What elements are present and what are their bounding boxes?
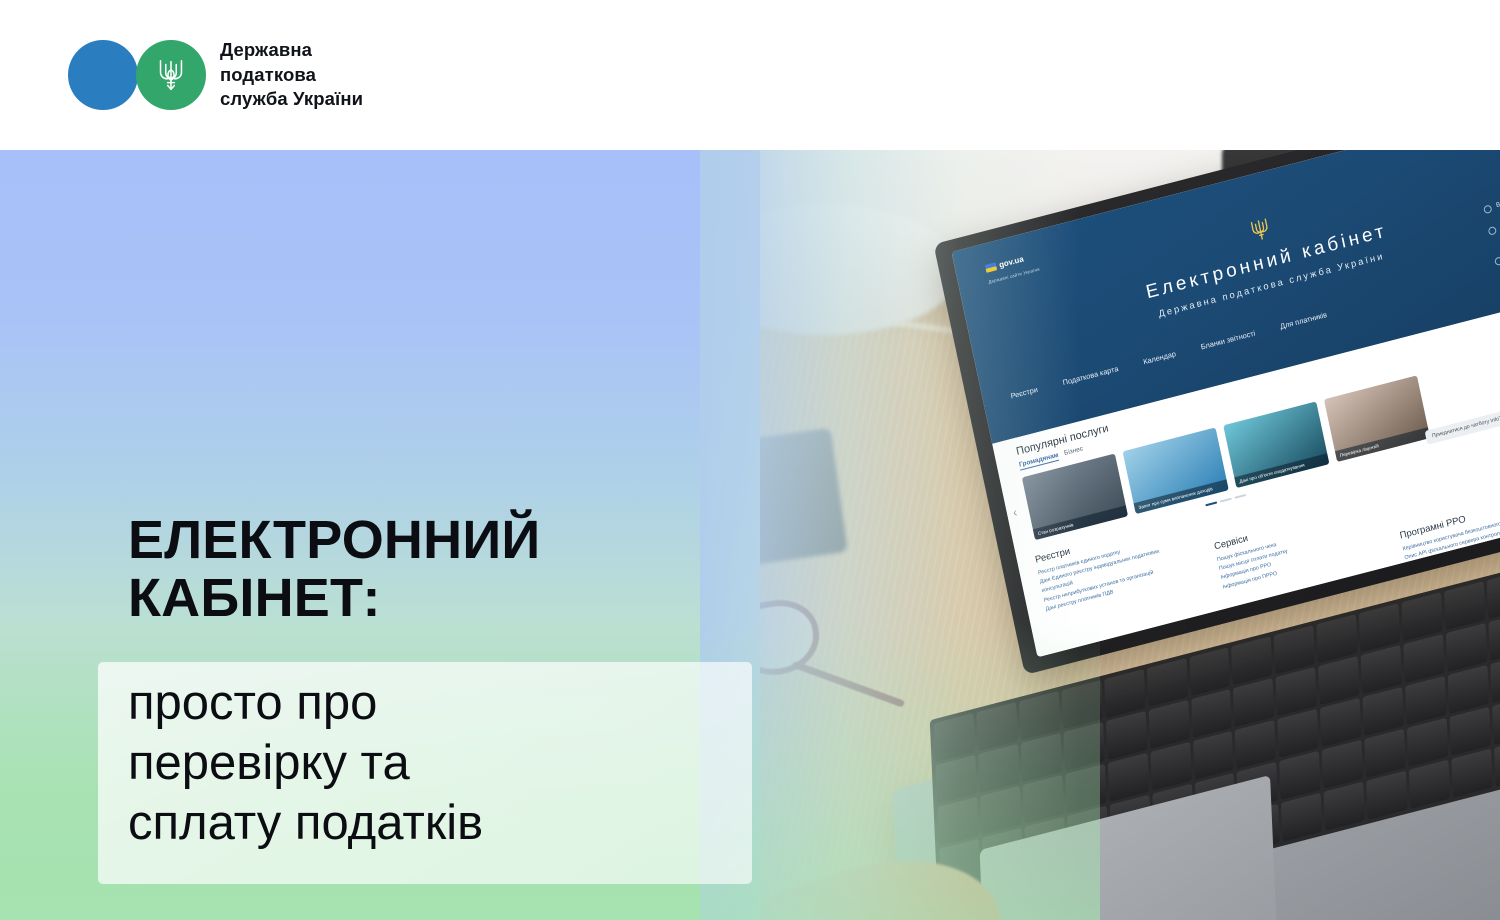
key[interactable]: [1023, 775, 1064, 824]
key[interactable]: [1366, 771, 1407, 820]
key[interactable]: [1191, 689, 1232, 738]
key[interactable]: [1451, 749, 1492, 798]
key[interactable]: [1450, 707, 1491, 756]
key[interactable]: [1278, 709, 1319, 758]
poster-page: Державна податкова служба України: [0, 0, 1500, 920]
key[interactable]: [1490, 654, 1500, 703]
utility-login-label: Вхід: [1495, 199, 1500, 210]
service-card[interactable]: Перевірка ліцензій: [1324, 375, 1430, 462]
info-icon: [1488, 226, 1497, 236]
key[interactable]: [1318, 656, 1359, 705]
carousel-dot[interactable]: [1234, 494, 1246, 499]
key[interactable]: [1403, 634, 1444, 683]
logo-marks: [68, 40, 206, 110]
gov-brand[interactable]: gov.ua Державні сайти України: [984, 247, 1040, 285]
key[interactable]: [1405, 676, 1446, 725]
key[interactable]: [1146, 658, 1187, 707]
key[interactable]: [1402, 592, 1443, 641]
carousel-dot[interactable]: [1220, 498, 1232, 503]
gov-brand-label: gov.ua: [998, 254, 1024, 269]
software-rro-column: Програмні РРО Керівництво користувача бе…: [1399, 487, 1500, 590]
key[interactable]: [1021, 733, 1062, 782]
key[interactable]: [936, 755, 977, 804]
service-card-caption: Дані про об'єкти оподаткування: [1234, 453, 1329, 488]
nav-item-registers[interactable]: Реєстри: [1010, 385, 1039, 401]
tab-business[interactable]: Бізнес: [1064, 445, 1084, 457]
carousel-dots[interactable]: [1205, 494, 1246, 506]
carousel-prev-icon[interactable]: ‹: [1012, 506, 1018, 519]
page-subtitle: просто про перевірку та сплату податків: [128, 674, 483, 853]
utility-legal-acts[interactable]: Нормативно-правові акти: [1488, 210, 1500, 244]
key[interactable]: [1150, 742, 1191, 791]
ukraine-flag-icon: [985, 262, 997, 273]
service-card-caption: Запит про суми виплачених доходів: [1133, 479, 1228, 514]
key[interactable]: [1104, 669, 1145, 718]
blue-circle-icon: [68, 40, 138, 110]
nav-item-taxpayers[interactable]: Для платників: [1279, 310, 1327, 331]
screen-trident-icon: [1246, 214, 1273, 247]
key[interactable]: [1276, 667, 1317, 716]
key[interactable]: [1444, 581, 1485, 630]
key[interactable]: [1231, 636, 1272, 685]
key[interactable]: [1322, 740, 1363, 789]
service-card[interactable]: Запит про суми виплачених доходів: [1123, 427, 1229, 514]
login-icon: [1483, 204, 1492, 214]
key[interactable]: [1409, 760, 1450, 809]
key[interactable]: [1281, 793, 1322, 842]
site-header: Державна податкова служба України: [0, 0, 1500, 150]
chatbot-tooltip: Приєднатися до чатботу InfoTAX: [1425, 408, 1500, 444]
key[interactable]: [1359, 603, 1400, 652]
nav-item-calendar[interactable]: Календар: [1142, 349, 1176, 366]
key[interactable]: [1489, 612, 1500, 661]
nav-item-forms[interactable]: Бланки звітності: [1200, 329, 1256, 352]
key[interactable]: [1317, 614, 1358, 663]
key[interactable]: [1235, 720, 1276, 769]
key[interactable]: [937, 797, 978, 846]
service-card[interactable]: Дані про об'єкти оподаткування: [1223, 401, 1329, 488]
key[interactable]: [978, 744, 1019, 793]
nav-item-tax-map[interactable]: Податкова карта: [1062, 364, 1119, 387]
key[interactable]: [976, 702, 1017, 751]
utility-accessibility[interactable]: Людям із порушенням зору: [1494, 240, 1500, 274]
organization-logo[interactable]: Державна податкова служба України: [68, 38, 363, 111]
key[interactable]: [1407, 718, 1448, 767]
key[interactable]: [1061, 680, 1102, 729]
key[interactable]: [1361, 645, 1402, 694]
key[interactable]: [1193, 731, 1234, 780]
key[interactable]: [980, 786, 1021, 835]
laptop: gov.ua Державні сайти України: [760, 235, 1500, 920]
eye-icon: [1494, 256, 1500, 266]
key[interactable]: [1233, 678, 1274, 727]
key[interactable]: [934, 713, 975, 762]
key[interactable]: [1065, 764, 1106, 813]
service-card-caption: Перевірка ліцензій: [1335, 427, 1430, 462]
key[interactable]: [1487, 570, 1500, 619]
carousel-dot-active[interactable]: [1205, 501, 1217, 506]
green-circle-icon: [136, 40, 206, 110]
hero-stage: gov.ua Державні сайти України: [0, 150, 1500, 920]
key[interactable]: [1019, 691, 1060, 740]
key[interactable]: [1274, 625, 1315, 674]
key[interactable]: [1280, 751, 1321, 800]
key[interactable]: [1363, 687, 1404, 736]
key[interactable]: [1320, 698, 1361, 747]
key[interactable]: [1365, 729, 1406, 778]
screen-utility-menu: Вхід Нормативно-правові акти Людям із по…: [1483, 188, 1500, 296]
key[interactable]: [1063, 722, 1104, 771]
key[interactable]: [1189, 647, 1230, 696]
trident-icon: [154, 55, 188, 95]
key[interactable]: [1492, 696, 1500, 745]
key[interactable]: [1448, 665, 1489, 714]
key[interactable]: [1148, 700, 1189, 749]
services-column: Сервіси Пошук фіскального чека Пошук міс…: [1213, 507, 1359, 593]
service-card[interactable]: Стан розрахунків: [1022, 453, 1128, 540]
key[interactable]: [1108, 753, 1149, 802]
key[interactable]: [1324, 782, 1365, 831]
key[interactable]: [1446, 623, 1487, 672]
laptop-screen: gov.ua Державні сайти України: [951, 150, 1500, 657]
page-title: ЕЛЕКТРОННИЙ КАБІНЕТ:: [128, 512, 540, 628]
key[interactable]: [1106, 711, 1147, 760]
organization-name: Державна податкова служба України: [220, 38, 363, 111]
key[interactable]: [1494, 738, 1500, 787]
